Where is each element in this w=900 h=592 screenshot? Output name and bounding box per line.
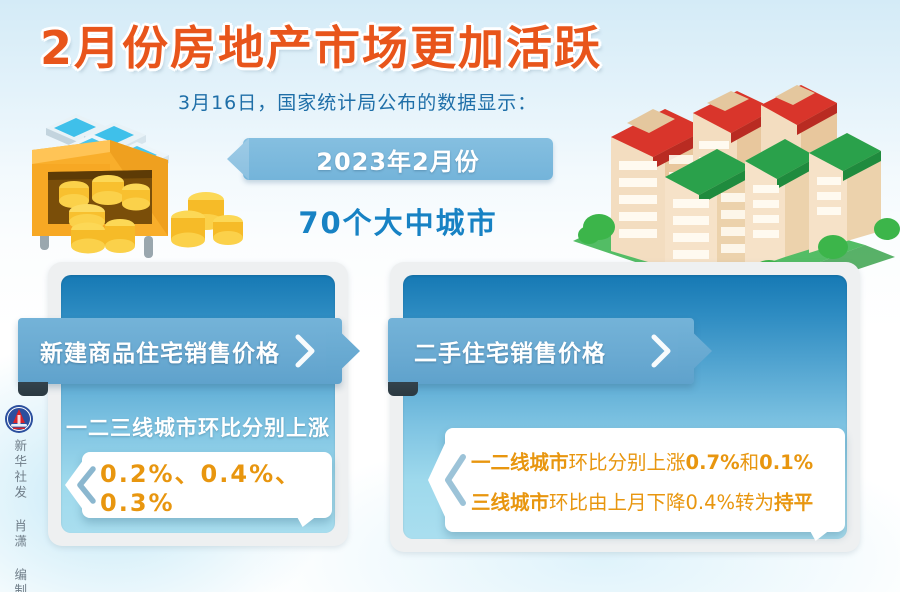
scope-label: 70个大中城市 [243,200,553,242]
line2-segment-desc: 环比由上月下降0.4%转为 [549,491,774,514]
period-banner: 2023年2月份 [243,138,553,180]
period-banner-label: 2023年2月份 [243,138,553,180]
ribbon-second-hand-homes-label: 二手住宅销售价格 [414,318,606,384]
line2-segment-result: 持平 [774,491,813,514]
bubble-second-hand-values: 一二线城市环比分别上涨0.7%和0.1% 三线城市环比由上月下降0.4%转为持平 [445,428,845,532]
coin-stack-icon [171,192,243,248]
line1-segment-value2: 0.1% [759,451,813,474]
line1-segment-cities: 一二线城市 [471,451,569,474]
line1-segment-verb: 环比分别上涨 [569,451,686,474]
card-new-homes-subline: 一二三线城市环比分别上涨 [61,412,335,442]
safe-coins-icon [12,108,272,268]
page-title: 2月份房地产市场更加活跃 [40,12,602,78]
line1-segment-conj: 和 [740,451,760,474]
chevron-right-icon [650,334,672,368]
ribbon-second-hand-homes: 二手住宅销售价格 [388,318,694,384]
ribbon-fold [388,382,418,396]
line2-segment-cities: 三线城市 [471,491,549,514]
bubble-line-1: 一二线城市环比分别上涨0.7%和0.1% [471,446,813,475]
ribbon-new-homes: 新建商品住宅销售价格 [18,318,342,384]
credit-block: 新华社发 肖潇 编制 [2,404,36,592]
line1-segment-value1: 0.7% [686,451,740,474]
bubble-new-homes-values: 0.2%、0.4%、0.3% [82,452,332,518]
bubble-new-homes-text: 0.2%、0.4%、0.3% [82,452,332,518]
credit-text: 新华社发 肖潇 编制 [13,439,26,592]
infographic-canvas: 2月份房地产市场更加活跃 3月16日，国家统计局公布的数据显示： [0,0,900,592]
bubble-second-hand-text: 一二线城市环比分别上涨0.7%和0.1% 三线城市环比由上月下降0.4%转为持平 [445,428,845,532]
xinhua-emblem-icon [4,404,34,434]
bubble-line-2: 三线城市环比由上月下降0.4%转为持平 [471,486,813,515]
ribbon-new-homes-label: 新建商品住宅销售价格 [40,318,280,384]
chevron-right-icon [294,334,316,368]
ribbon-fold [18,382,48,396]
